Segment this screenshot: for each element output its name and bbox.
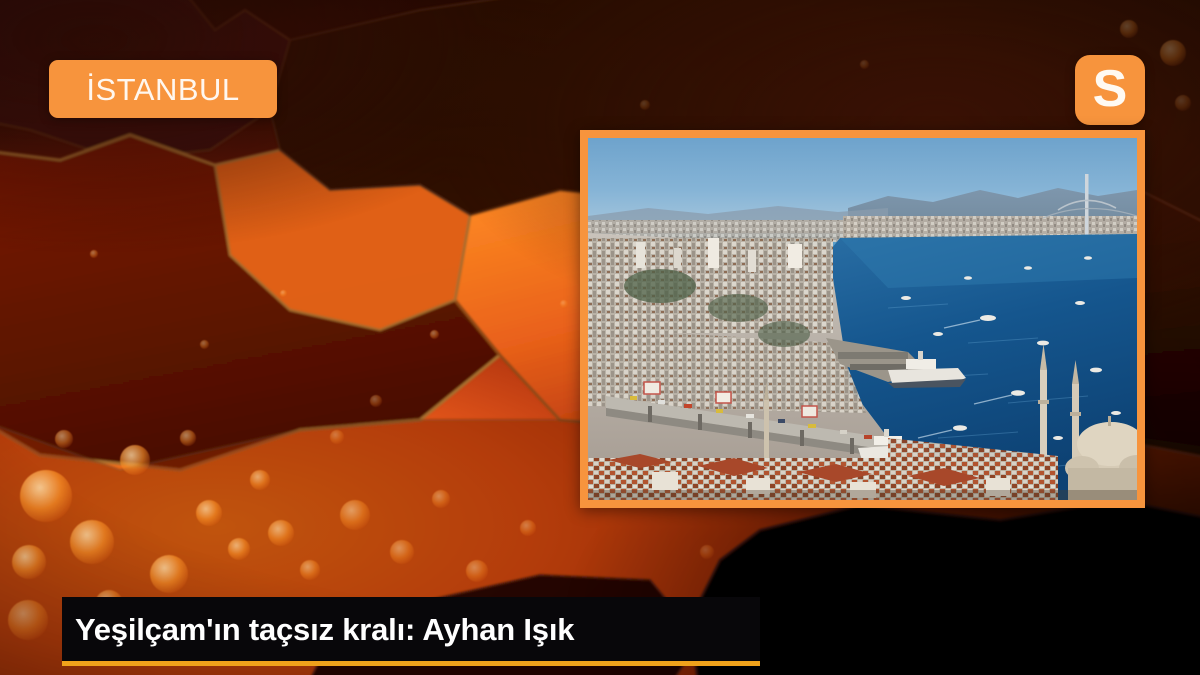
headline-underline (62, 661, 760, 666)
sabah-logo[interactable]: S (1075, 55, 1145, 125)
city-badge: İSTANBUL (49, 60, 277, 118)
headline-text: Yeşilçam'ın taçsız kralı: Ayhan Işık (75, 614, 574, 645)
city-badge-label: İSTANBUL (86, 74, 239, 105)
istanbul-photo-illustration (588, 138, 1137, 500)
photo-frame (580, 130, 1145, 508)
logo-letter: S (1093, 63, 1128, 115)
headline-bar: Yeşilçam'ın taçsız kralı: Ayhan Işık (62, 597, 760, 661)
news-card: İSTANBUL S (0, 0, 1200, 675)
istanbul-photo (588, 138, 1137, 500)
